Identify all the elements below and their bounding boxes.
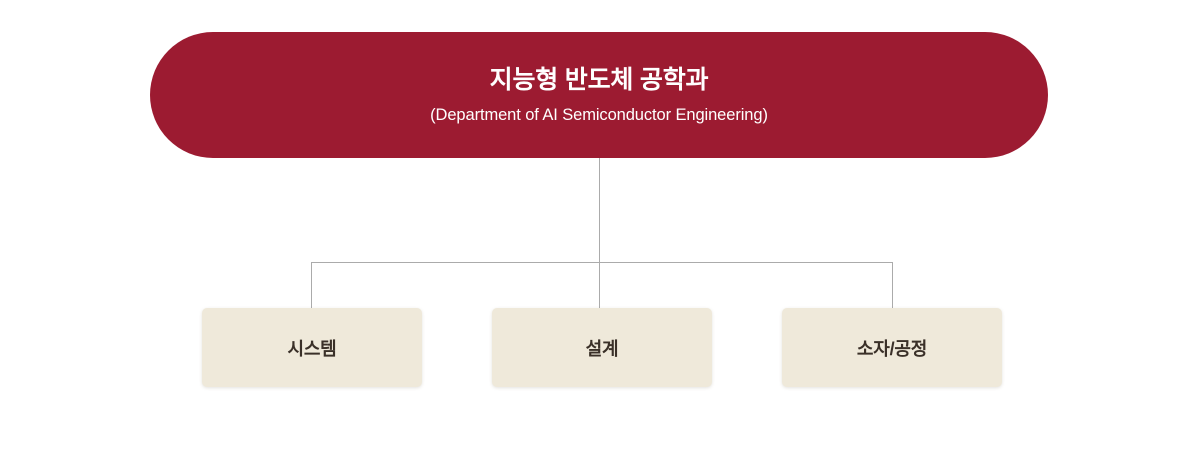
connector-trunk-vertical (599, 158, 600, 263)
connector-horizontal-bus (311, 262, 893, 263)
root-node-subtitle: (Department of AI Semiconductor Engineer… (430, 105, 768, 126)
child-node-device-process[interactable]: 소자/공정 (782, 308, 1002, 387)
connector-drop-right (892, 262, 893, 309)
child-node-system[interactable]: 시스템 (202, 308, 422, 387)
child-node-label: 시스템 (287, 335, 336, 361)
org-chart: 지능형 반도체 공학과 (Department of AI Semiconduc… (0, 0, 1200, 450)
child-node-label: 설계 (586, 335, 619, 361)
connector-drop-center (599, 262, 600, 309)
child-node-label: 소자/공정 (857, 335, 927, 361)
root-node-title: 지능형 반도체 공학과 (490, 65, 709, 96)
root-node-department[interactable]: 지능형 반도체 공학과 (Department of AI Semiconduc… (150, 32, 1048, 158)
child-node-design[interactable]: 설계 (492, 308, 712, 387)
connector-drop-left (311, 262, 312, 309)
